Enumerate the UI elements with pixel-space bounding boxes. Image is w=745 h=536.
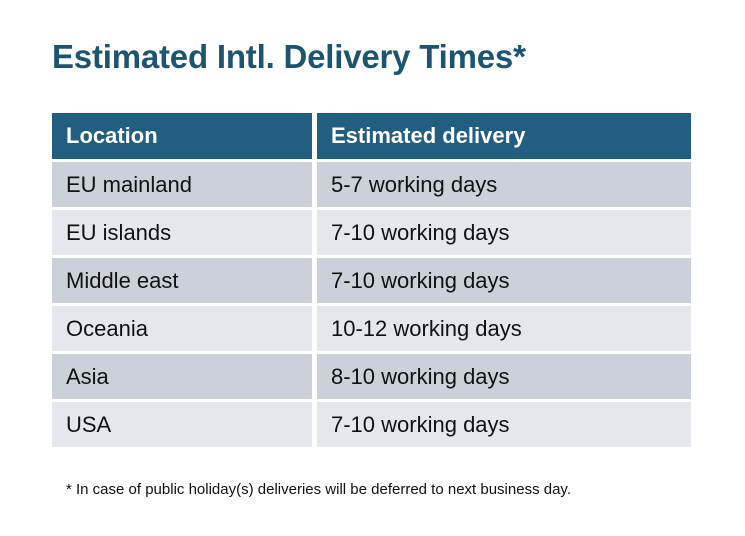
- table-row: Oceania 10-12 working days: [52, 306, 691, 354]
- table-header: Location Estimated delivery: [52, 113, 691, 162]
- page-title: Estimated Intl. Delivery Times*: [52, 38, 526, 76]
- table-cell-location: USA: [52, 402, 317, 447]
- table-row: Middle east 7-10 working days: [52, 258, 691, 306]
- column-header-location: Location: [52, 113, 317, 162]
- table-row: USA 7-10 working days: [52, 402, 691, 447]
- column-header-delivery-label: Estimated delivery: [317, 113, 691, 159]
- table-cell-location: EU islands: [52, 210, 317, 258]
- table-cell-location: Asia: [52, 354, 317, 402]
- table-cell-location: Oceania: [52, 306, 317, 354]
- delivery-times-page: Estimated Intl. Delivery Times* Location…: [0, 0, 745, 536]
- table-body: EU mainland 5-7 working days EU islands …: [52, 162, 691, 447]
- table-cell-delivery: 7-10 working days: [317, 210, 691, 258]
- cell-location-value: Middle east: [52, 258, 312, 303]
- cell-location-value: EU islands: [52, 210, 312, 255]
- cell-location-value: Asia: [52, 354, 312, 399]
- table-cell-delivery: 5-7 working days: [317, 162, 691, 210]
- cell-location-value: Oceania: [52, 306, 312, 351]
- estimated-delivery-table: Location Estimated delivery EU mainland …: [52, 113, 691, 447]
- table-cell-location: Middle east: [52, 258, 317, 306]
- table-cell-delivery: 7-10 working days: [317, 402, 691, 447]
- table-row: EU mainland 5-7 working days: [52, 162, 691, 210]
- cell-delivery-value: 7-10 working days: [317, 210, 691, 255]
- cell-delivery-value: 10-12 working days: [317, 306, 691, 351]
- cell-location-value: USA: [52, 402, 312, 447]
- cell-location-value: EU mainland: [52, 162, 312, 207]
- cell-delivery-value: 7-10 working days: [317, 258, 691, 303]
- table-cell-delivery: 8-10 working days: [317, 354, 691, 402]
- table-cell-location: EU mainland: [52, 162, 317, 210]
- table-cell-delivery: 10-12 working days: [317, 306, 691, 354]
- column-header-location-label: Location: [52, 113, 312, 159]
- table-header-row: Location Estimated delivery: [52, 113, 691, 162]
- table-row: Asia 8-10 working days: [52, 354, 691, 402]
- table-footnote: * In case of public holiday(s) deliverie…: [66, 481, 571, 498]
- table-row: EU islands 7-10 working days: [52, 210, 691, 258]
- cell-delivery-value: 5-7 working days: [317, 162, 691, 207]
- cell-delivery-value: 7-10 working days: [317, 402, 691, 447]
- cell-delivery-value: 8-10 working days: [317, 354, 691, 399]
- table-cell-delivery: 7-10 working days: [317, 258, 691, 306]
- column-header-delivery: Estimated delivery: [317, 113, 691, 162]
